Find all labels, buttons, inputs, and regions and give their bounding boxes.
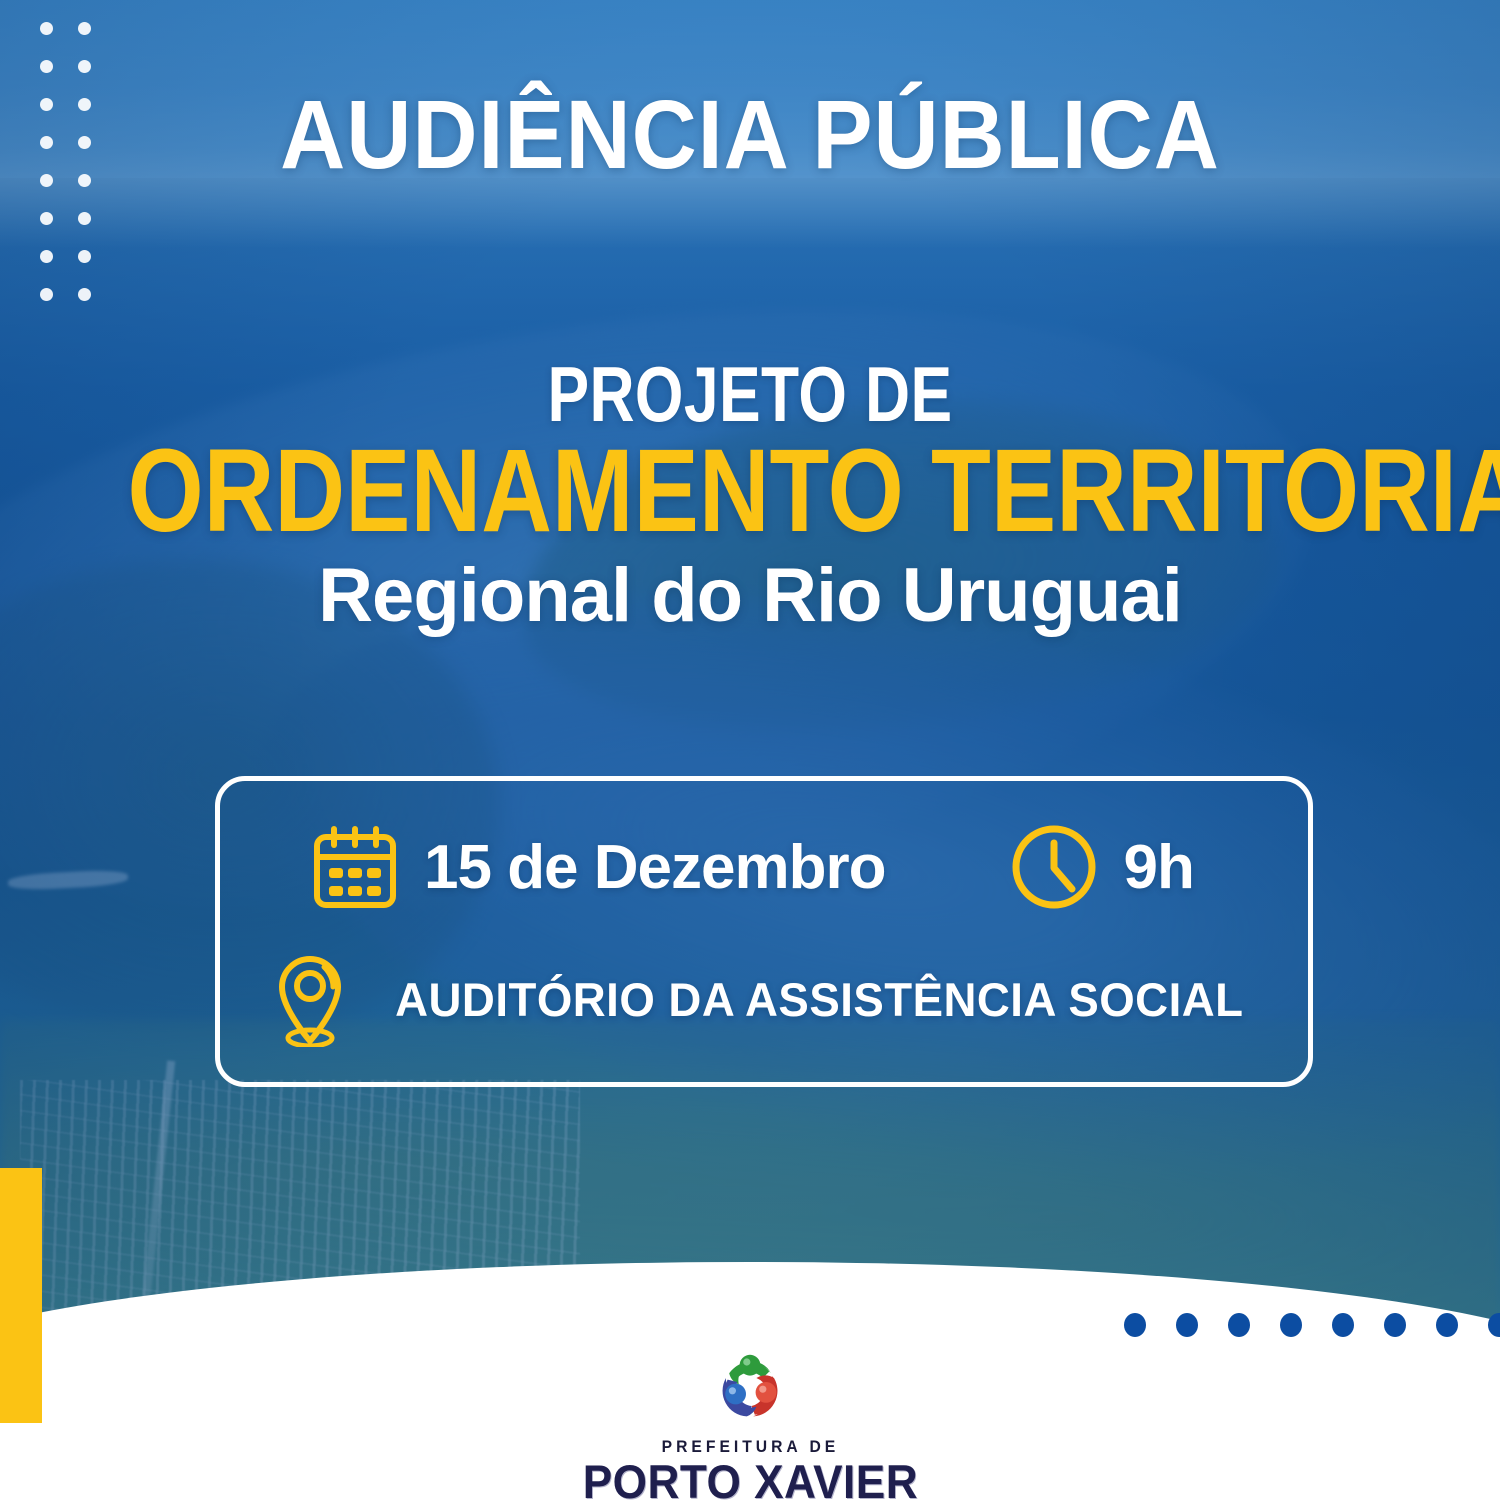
blue-dot [1228,1313,1250,1337]
blue-dot [1488,1313,1500,1337]
event-type-title: AUDIÊNCIA PÚBLICA [53,86,1448,183]
decor-dot [78,288,91,301]
blue-dot [1280,1313,1302,1337]
three-people-circle-emblem [702,1338,798,1434]
decor-dot [40,98,53,111]
decor-dot [78,212,91,225]
heading-line-ordenamento: ORDENAMENTO TERRITORIAL [128,435,1373,547]
decor-dot [40,60,53,73]
map-pin-icon [272,951,348,1047]
blue-dot [1176,1313,1198,1337]
decor-dot [40,250,53,263]
main-heading-block: PROJETO DE ORDENAMENTO TERRITORIAL Regio… [0,358,1500,635]
event-date: 15 de Dezembro [424,832,886,903]
decor-dot [40,212,53,225]
blue-dot [1332,1313,1354,1337]
decor-dot [40,174,53,187]
blue-dot [1124,1313,1146,1337]
location-row: AUDITÓRIO DA ASSISTÊNCIA SOCIAL [272,951,1257,1047]
blue-dot [1384,1313,1406,1337]
decor-dot [78,60,91,73]
blue-dot [1436,1313,1458,1337]
decor-dot [78,22,91,35]
heading-line-projeto: PROJETO DE [150,358,1350,431]
decor-dot [78,250,91,263]
calendar-icon [312,823,398,911]
poster-canvas: AUDIÊNCIA PÚBLICA PROJETO DE ORDENAMENTO… [0,0,1500,1500]
logo-city-name: PORTO XAVIER [582,1458,917,1500]
event-location: AUDITÓRIO DA ASSISTÊNCIA SOCIAL [395,972,1243,1027]
clock-icon [1010,823,1098,911]
decor-dot [40,136,53,149]
city-hall-logo: PREFEITURA DE PORTO XAVIER GOVERNO E VOC… [0,1338,1500,1500]
decor-dot [40,22,53,35]
decor-dot [40,288,53,301]
heading-line-regional: Regional do Rio Uruguai [0,557,1500,635]
date-time-row: 15 de Dezembro 9h [312,823,1312,911]
decor-blue-dot-row [1124,1313,1500,1337]
event-time: 9h [1124,832,1194,903]
event-details-card: 15 de Dezembro 9h AUDITÓRIO DA ASSISTÊNC… [215,776,1313,1087]
